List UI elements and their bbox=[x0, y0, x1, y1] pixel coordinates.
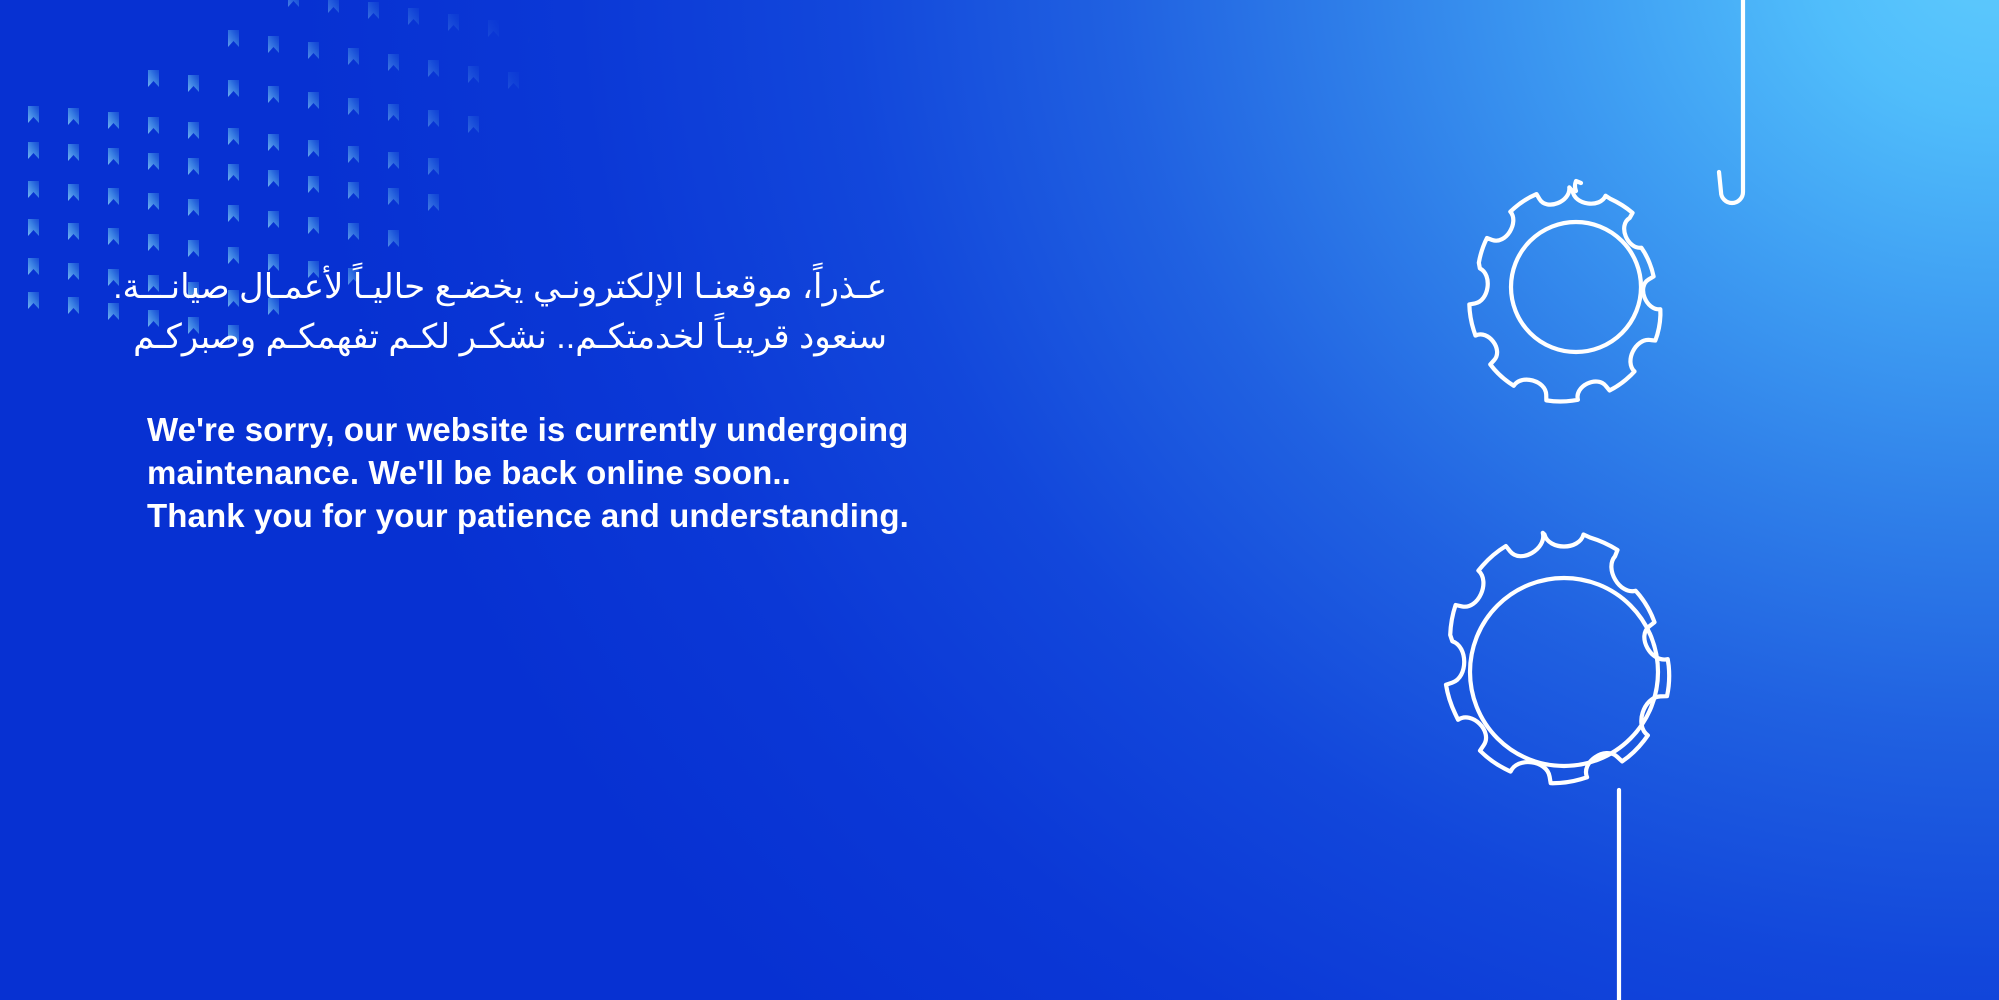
small-gear bbox=[1458, 176, 1677, 415]
maintenance-message: عـذراً، موقعنـا الإلكترونـي يخضـع حاليـا… bbox=[147, 262, 1147, 537]
arabic-line-2: سنعود قريبـاً لخدمتكـم.. نشكـر لكـم تفهم… bbox=[147, 312, 887, 362]
english-line-1: We're sorry, our website is currently un… bbox=[147, 408, 1147, 451]
gear-illustration bbox=[1219, 0, 1999, 1000]
small-gear-hub bbox=[1511, 222, 1641, 352]
english-message: We're sorry, our website is currently un… bbox=[147, 408, 1147, 537]
arabic-line-1: عـذراً، موقعنـا الإلكترونـي يخضـع حاليـا… bbox=[147, 262, 887, 312]
maintenance-page: عـذراً، موقعنـا الإلكترونـي يخضـع حاليـا… bbox=[0, 0, 1999, 1000]
english-line-3: Thank you for your patience and understa… bbox=[147, 494, 1147, 537]
large-gear-hub bbox=[1470, 578, 1658, 766]
arabic-message: عـذراً، موقعنـا الإلكترونـي يخضـع حاليـا… bbox=[147, 262, 1147, 362]
english-line-2: maintenance. We'll be back online soon.. bbox=[147, 451, 1147, 494]
large-gear bbox=[1446, 533, 1669, 783]
gear-top-connector bbox=[1719, 0, 1743, 203]
